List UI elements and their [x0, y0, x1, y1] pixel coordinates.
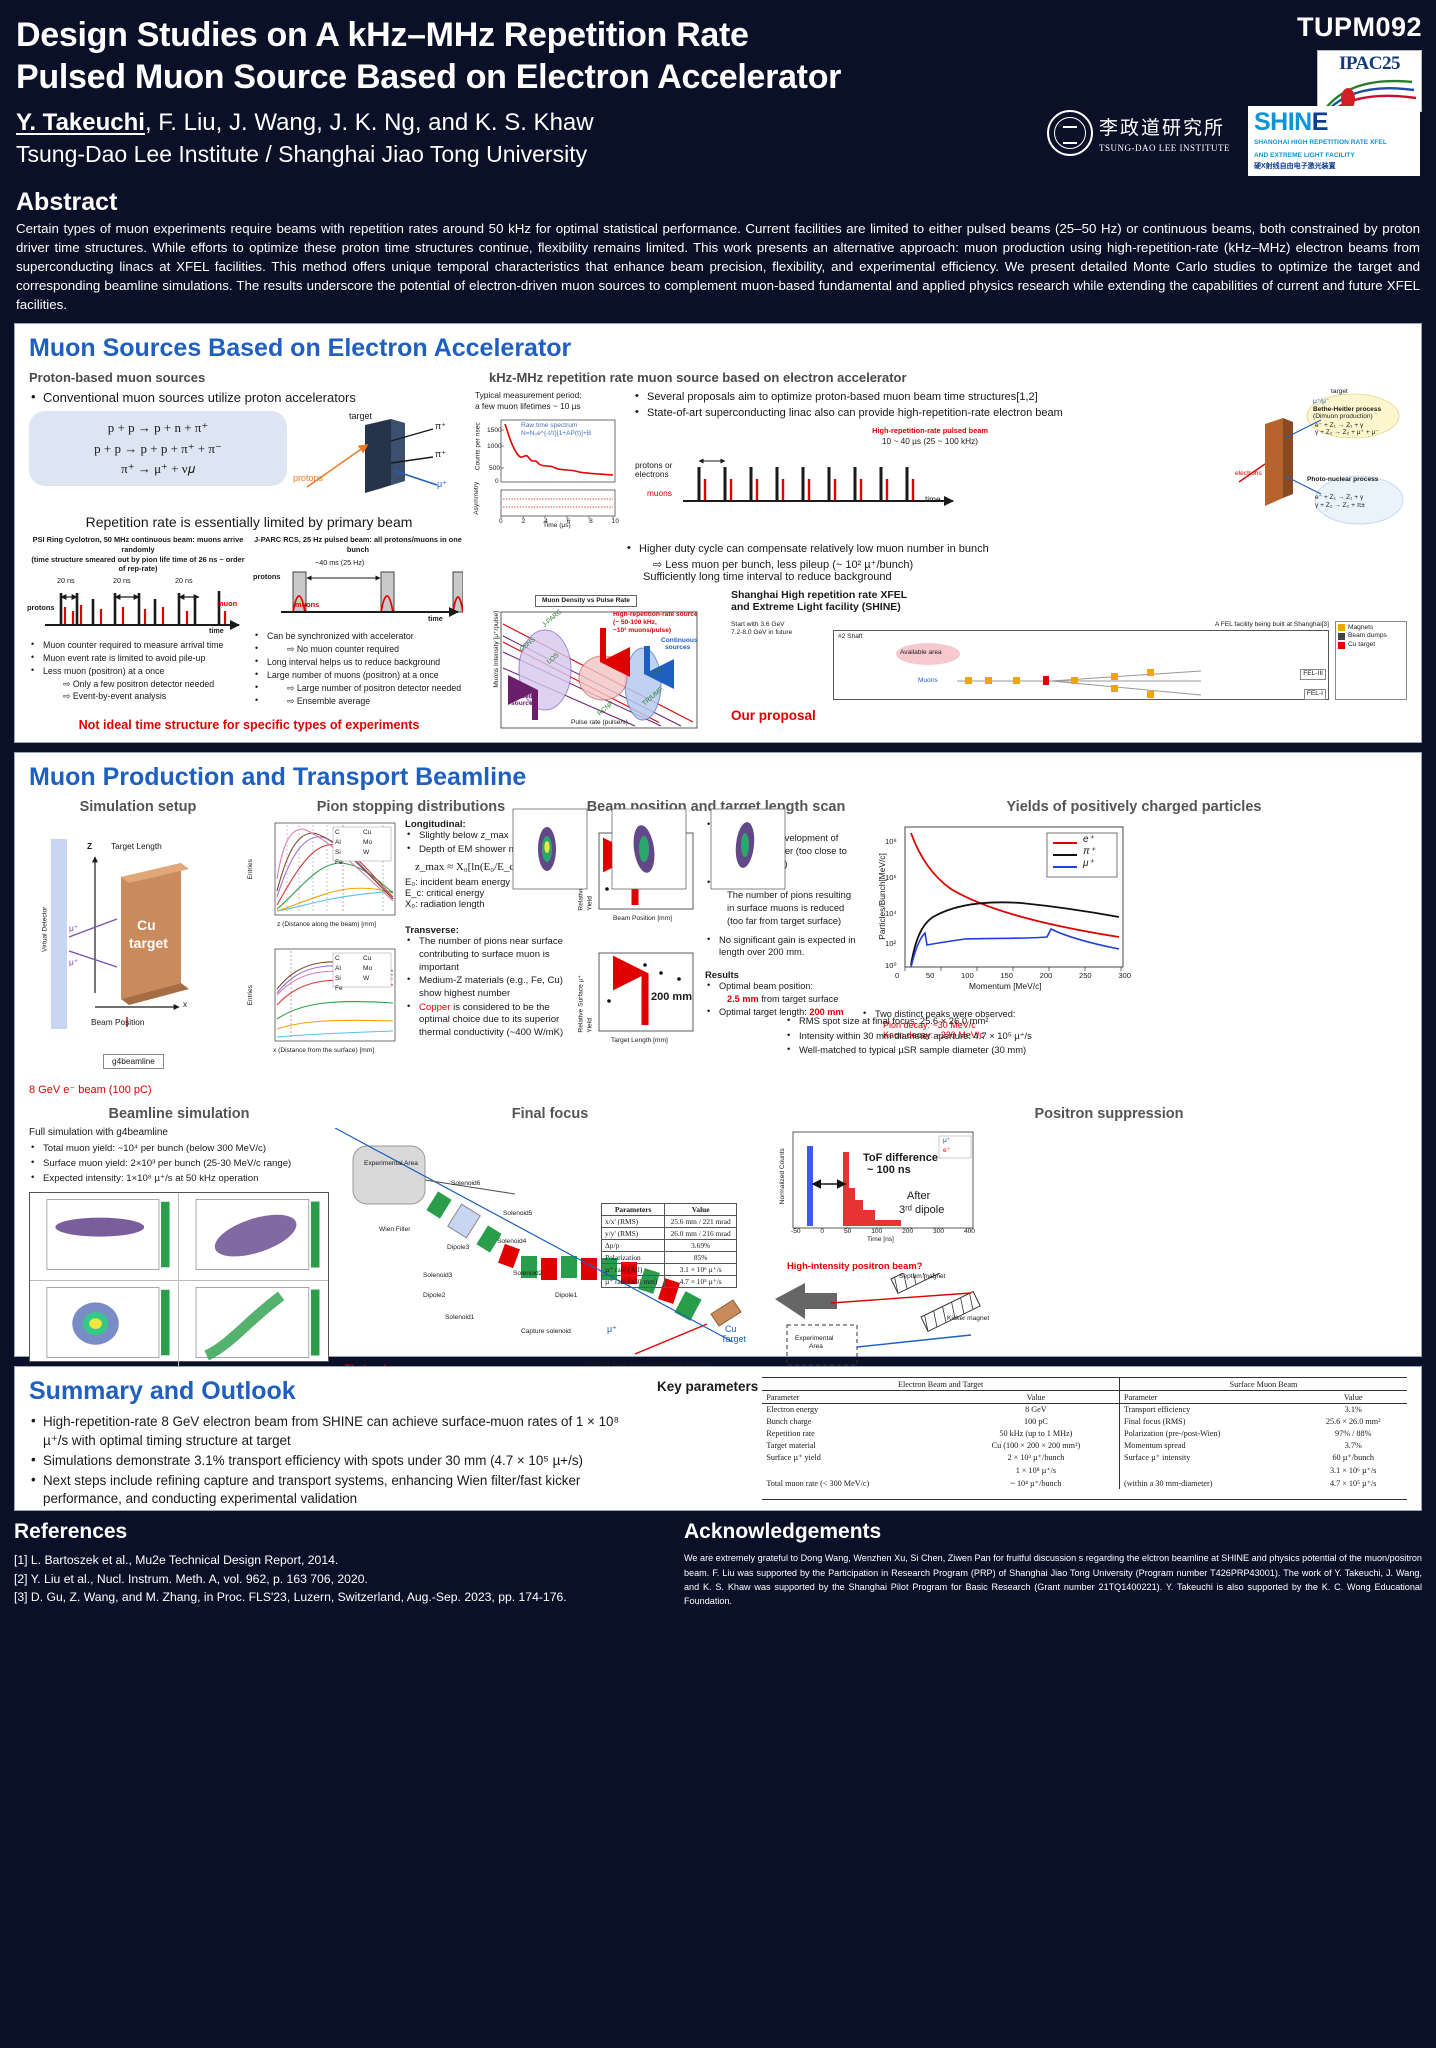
cu-target-label-2: Target	[721, 1334, 746, 1346]
legend-ti: Si	[335, 974, 363, 984]
tdli-english-name: TSUNG-DAO LEE INSTITUTE	[1099, 143, 1230, 153]
beam-position-label: Beam Position	[91, 1017, 145, 1028]
poster-header: Design Studies on A kHz–MHz Repetition R…	[0, 0, 1436, 180]
legend-cu: Cu	[363, 828, 391, 838]
table-header-row: ParameterValueParameterValue	[762, 1391, 1407, 1404]
summary-col: Summary and Outlook High-repetition-rate…	[29, 1377, 641, 1500]
fel-note: A FEL facility being built at Shanghai[3…	[833, 621, 1329, 630]
pion-label-2: π⁺	[435, 449, 446, 460]
xtick: 100	[871, 1228, 882, 1237]
density-pulsed-2: sources	[511, 700, 536, 709]
pion-label-1: π⁺	[435, 421, 446, 432]
muon-label: μ⁺	[437, 479, 447, 490]
value-col-header: Value	[665, 1204, 737, 1216]
affiliation: Tsung-Dao Lee Institute / Shanghai Jiao …	[16, 141, 1047, 168]
density-hr-note-3: ~10³ muons/pulse)	[613, 627, 671, 636]
col-value-right: Value	[1299, 1391, 1407, 1404]
target-length-label: Target Length	[111, 841, 162, 852]
result-pos-label: Optimal beam position:	[719, 981, 813, 991]
solenoid6-label: Solenoid6	[451, 1180, 480, 1189]
high-rep-beam-figure: High-repetition-rate pulsed beam 10 ~ 40…	[633, 426, 1227, 521]
list-item: The number of pions near surface contrib…	[405, 936, 571, 974]
hr-muons-label: muons	[647, 488, 672, 499]
solenoid5-label: Solenoid5	[503, 1210, 532, 1219]
pion-long-chart: C Cu Al Mo Si W Fe Entries z (Distance a…	[251, 819, 401, 931]
scan-targetlen-chart: 200 mm Relative Surface μ⁺ Yield Target …	[575, 943, 701, 1051]
table-row: µ⁺ rate (All)3.1 × 10⁶ µ⁺/s	[602, 1264, 737, 1276]
kicker-magnet-label: Kicker magnet	[947, 1315, 989, 1324]
photo-nuclear-eq-2: γ + Z₂ → Z₂ + π±	[1315, 502, 1365, 511]
xtick: 0	[895, 971, 899, 981]
table-row: µ⁺ rate (ø30 mm)4.7 × 10⁵ µ⁺/s	[602, 1276, 737, 1288]
shine-title-line-2: and Extreme Light facility (SHINE)	[731, 601, 1407, 613]
scan2-annotation: 200 mm	[651, 991, 692, 1003]
equation-3: π⁺ → μ⁺ + ν𝜇	[45, 459, 271, 479]
list-item: [3] D. Gu, Z. Wang, and M. Zhang, in Pro…	[14, 1588, 654, 1606]
list-item: Copper is considered to be the optimal c…	[405, 1002, 571, 1040]
group-right: Surface Muon Beam	[1120, 1378, 1407, 1390]
results-heading: Results	[705, 969, 857, 980]
high-intensity-positron-note: High-intensity positron beam?	[787, 1260, 1407, 1271]
final-focus-params-table: ParametersValue x/x' (RMS)25.6 mm / 221 …	[601, 1203, 737, 1288]
pion-trans-ylabel: Entries	[247, 985, 256, 1006]
list-item: Less muon (positron) at a once	[29, 665, 247, 677]
xtick: 2	[522, 518, 526, 527]
exp-area-label-2: Area	[809, 1343, 823, 1352]
beamline-sim-col: Beamline simulation Full simulation with…	[29, 1106, 329, 1395]
ipac-arcs-icon	[1322, 74, 1418, 110]
phase-plot-c	[30, 1281, 179, 1368]
legend-beam-dumps: Beam dumps	[1348, 632, 1387, 641]
photo-nuclear-title: Photo-nuclear process	[1307, 476, 1378, 485]
paper-id: TUPM092	[1297, 12, 1422, 43]
after-dipole-line-2: 3ʳᵈ dipole	[899, 1204, 944, 1216]
axis-z-label: Z	[87, 841, 92, 852]
legend-al: Al	[335, 838, 363, 848]
list-item: No significant gain is expected in lengt…	[705, 934, 857, 960]
phase-plot-b	[179, 1193, 328, 1281]
fel-legend: Magnets Beam dumps Cu target	[1335, 621, 1407, 701]
virtual-detector-label: Virtual Detector	[41, 907, 50, 952]
list-item: Total muon yield: ~10⁴ per bunch (below …	[29, 1142, 329, 1156]
list-item: Next steps include refining capture and …	[29, 1472, 641, 1510]
acknowledgements-body: We are extremely grateful to Dong Wang, …	[684, 1551, 1422, 1607]
tof-legend-e: e⁺	[943, 1147, 950, 1156]
equation-2: p + p → p + p + π⁺ + π⁻	[45, 439, 271, 459]
wien-filter-label: Wien Filter	[379, 1226, 411, 1235]
jparc-sub-note-2: ⇨ Large number of positron detector need…	[253, 682, 463, 694]
jparc-sub-note-1: ⇨ No muon counter required	[253, 643, 463, 655]
authors-row: Y. Takeuchi, F. Liu, J. Wang, J. K. Ng, …	[16, 108, 1420, 176]
phase-plot-a	[30, 1193, 179, 1281]
fel-id-1: FEL-I	[1304, 689, 1326, 700]
pion-long-xlabel: z (Distance along the beam) [mm]	[277, 921, 376, 930]
electron-bullet-list: Several proposals aim to optimize proton…	[633, 390, 1227, 420]
section2-heading: Muon Production and Transport Beamline	[29, 763, 1407, 792]
shine-word-e: E	[1312, 108, 1328, 136]
lead-author: Y. Takeuchi	[16, 109, 145, 136]
tof-chart: μ⁺ e⁺ ToF difference ~ 100 ns After 3ʳᵈ …	[771, 1128, 1407, 1256]
list-item: Simulations demonstrate 3.1% transport e…	[29, 1452, 641, 1471]
hr-title: High-repetition-rate pulsed beam	[633, 426, 1227, 436]
typical-period-line-2: a few muon lifetimes ~ 10 µs	[475, 401, 625, 412]
full-sim-note: Full simulation with g4beamline	[29, 1127, 329, 1138]
psi-timing-block: PSI Ring Cyclotron, 50 MHz continuous be…	[29, 535, 247, 708]
key-params-col: Key parameters Electron Beam and TargetS…	[657, 1377, 1407, 1500]
list-item: RMS spot size at final focus: 25.6 × 26.…	[785, 1014, 1115, 1027]
shine-title-line-1: Shanghai High repetition rate XFEL	[731, 589, 1407, 601]
shine-subtitle-1: SHANGHAI HIGH REPETITION RATE XFEL	[1254, 138, 1415, 147]
psi-tick-label-2: 20 ns	[113, 576, 131, 585]
spectrum-y-axis-label: Counts per nsec	[475, 423, 484, 471]
tdli-seal-icon	[1047, 110, 1093, 156]
yields-ylabel: Particles/Bunch[MeV/c]	[877, 854, 888, 941]
phase-plot-d	[179, 1281, 328, 1368]
xtick: 300	[1118, 971, 1131, 981]
available-area-label: Available area	[900, 649, 942, 658]
list-item: [2] Y. Liu et al., Nucl. Instrum. Meth. …	[14, 1570, 654, 1588]
result-pos-suffix: from target surface	[761, 994, 838, 1004]
electron-bullets-block: Several proposals aim to optimize proton…	[633, 390, 1227, 540]
xtick: 10	[612, 518, 619, 527]
g4beamline-tag: g4beamline	[103, 1054, 164, 1069]
pion-production-equations: p + p → p + n + π⁺ p + p → p + p + π⁺ + …	[29, 411, 287, 485]
proton-based-column: Proton-based muon sources Conventional m…	[29, 370, 469, 746]
xtick: 0	[499, 518, 503, 527]
capture-solenoid-label: Capture solenoid	[521, 1328, 573, 1337]
pion-trans-xlabel: x (Distance from the surface) [mm]	[273, 1047, 374, 1056]
hr-time-axis-label: time	[925, 494, 941, 505]
magnets-swatch-icon	[1338, 624, 1345, 631]
repetition-rate-note: Repetition rate is essentially limited b…	[29, 514, 469, 530]
psi-caption-line-2: (time structure smeared out by pion life…	[29, 555, 247, 574]
spectrum-ytick-1: 1500	[487, 427, 502, 436]
xtick: 150	[1000, 971, 1013, 981]
legend-si: Si	[335, 848, 363, 858]
beamline-phase-space-grid	[29, 1192, 329, 1362]
references-list: [1] L. Bartoszek et al., Mu2e Technical …	[14, 1551, 654, 1606]
table-row: Δp/p3.69%	[602, 1240, 737, 1252]
jparc-protons-label: protons	[253, 572, 281, 581]
psi-time-axis-label: time	[209, 626, 224, 635]
table-row: Total muon rate (< 300 MeV/c)~ 10⁴ µ⁺/bu…	[762, 1477, 1407, 1490]
solenoid1-label: Solenoid1	[445, 1314, 474, 1323]
electron-beam-note: 8 GeV e⁻ beam (100 pC)	[29, 1083, 247, 1096]
list-item: State-of-art superconducting linac also …	[633, 406, 1227, 420]
tdli-text: 李政道研究所 TSUNG-DAO LEE INSTITUTE	[1099, 113, 1230, 153]
after-dipole-line-1: After	[907, 1190, 930, 1202]
our-proposal-label: Our proposal	[731, 708, 1407, 723]
abstract-heading: Abstract	[16, 188, 1436, 217]
hr-interval-label: 10 ~ 40 µs (25 ~ 100 kHz)	[633, 436, 1227, 447]
target-label-sim: target	[129, 935, 168, 951]
electrons-right-label: electrons	[1235, 470, 1262, 479]
axis-x-label: x	[183, 999, 187, 1010]
table-row: Target materialCu (100 × 200 × 200 mm³)M…	[762, 1439, 1407, 1451]
shine-chinese: 硬X射线自由电子激光装置	[1254, 161, 1415, 171]
duty-sub-note-1: ⇨ Less muon per bunch, less pileup (~ 10…	[625, 558, 1407, 571]
xtick: 0	[820, 1228, 824, 1237]
raw-time-spectrum-chart: Raw time spectrum N=N₀e^{-t/τ}[1+AP(t)]+…	[475, 416, 625, 528]
list-item: Several proposals aim to optimize proton…	[633, 390, 1227, 404]
shine-logo: SHINE SHANGHAI HIGH REPETITION RATE XFEL…	[1248, 106, 1420, 176]
jparc-caption: J-PARC RCS, 25 Hz pulsed beam: all proto…	[253, 535, 463, 554]
spectrum-asym-label: Asymmetry	[473, 482, 482, 515]
fel-shaft-label: #2 Shaft	[838, 633, 863, 642]
equation-1: p + p → p + n + π⁺	[45, 418, 271, 438]
beam-dumps-swatch-icon	[1338, 633, 1345, 640]
density-continuous-2: sources	[665, 644, 690, 653]
transverse-list: The number of pions near surface contrib…	[405, 936, 571, 1039]
positron-suppression-heading: Positron suppression	[811, 1106, 1407, 1122]
yields-legend-pip: π⁺	[1083, 846, 1095, 857]
shine-word-main: SHIN	[1254, 108, 1312, 136]
table-row: 1 × 10⁸ µ⁺/s3.1 × 10⁶ µ⁺/s	[762, 1464, 1407, 1477]
psi-sub-note-2: ⇨ Event-by-event analysis	[29, 690, 247, 702]
section-beamline: Muon Production and Transport Beamline S…	[14, 752, 1422, 1357]
cu-target-swatch-icon	[1338, 642, 1345, 649]
jparc-muons-label: muons	[295, 600, 319, 609]
legend-w: W	[363, 974, 391, 984]
scan2-xlabel: Target Length [mm]	[611, 1037, 668, 1046]
table-row: y/y' (RMS)26.0 mm / 216 mrad	[602, 1228, 737, 1240]
xtick: 400	[964, 1228, 975, 1237]
spectrum-x-axis-label: Time (μs)	[543, 522, 571, 531]
section-summary: Summary and Outlook High-repetition-rate…	[14, 1366, 1422, 1511]
legend-magnets: Magnets	[1348, 624, 1373, 633]
fel-muons-label: Muons	[918, 677, 938, 686]
yields-legend-ep: e⁺	[1083, 834, 1094, 845]
experimental-area-label: Experimental Area	[363, 1160, 419, 1169]
simulation-setup-heading: Simulation setup	[29, 799, 247, 815]
authors-block: Y. Takeuchi, F. Liu, J. Wang, J. K. Ng, …	[16, 108, 1047, 168]
co-authors: , F. Liu, J. Wang, J. K. Ng, and K. S. K…	[145, 109, 594, 136]
tof-ylabel: Normalized Counts	[779, 1149, 788, 1205]
jparc-sub-note-3: ⇨ Ensemble average	[253, 695, 463, 707]
septum-magnet-label: Septum magnet	[899, 1273, 946, 1282]
list-item: Large number of muons (positron) at a on…	[253, 669, 463, 681]
yields-heading: Yields of positively charged particles	[861, 799, 1407, 815]
xtick: 300	[933, 1228, 944, 1237]
acknowledgements-block: Acknowledgements We are extremely gratef…	[684, 1520, 1422, 1607]
abstract-body: Certain types of muon experiments requir…	[16, 220, 1420, 314]
density-x-axis-label: Pulse rate (pulse/s)	[571, 719, 628, 728]
pion-legend-long: C Cu Al Mo Si W Fe	[335, 828, 391, 868]
legend-cu: Cu	[363, 954, 391, 964]
list-item: Conventional muon sources utilize proton…	[29, 390, 469, 405]
tdli-logo: 李政道研究所 TSUNG-DAO LEE INSTITUTE	[1047, 110, 1230, 156]
psi-caption-line-1: PSI Ring Cyclotron, 50 MHz continuous be…	[29, 535, 247, 554]
pion-legend-trans: C Cu Al Mo Si W Fe	[335, 954, 391, 994]
solenoid4-label: Solenoid4	[497, 1238, 526, 1247]
kicker-figure: Septum magnet Kicker magnet Experimental…	[771, 1273, 1407, 1373]
table-row: Surface µ⁺ yield2 × 10³ µ⁺/bunchSurface …	[762, 1451, 1407, 1464]
results-list: Optimal beam position:2.5 mm from target…	[705, 980, 857, 1018]
ipac-logo-label: IPAC25	[1339, 53, 1400, 75]
xtick: 50	[926, 971, 934, 981]
dipole2-label: Dipole2	[423, 1292, 445, 1301]
pion-charts: C Cu Al Mo Si W Fe Entries z (Distance a…	[251, 819, 401, 1057]
density-chart-title: Muon Density vs Pulse Rate	[535, 595, 637, 608]
list-item: Can be synchronized with accelerator	[253, 630, 463, 642]
legend-al: Al	[335, 964, 363, 974]
xtick: 8	[589, 518, 593, 527]
yields-xlabel: Momentum [MeV/c]	[969, 981, 1042, 992]
section1-body: Proton-based muon sources Conventional m…	[29, 370, 1407, 746]
legend-c: C	[335, 828, 363, 838]
solenoid3-label: Solenoid3	[423, 1272, 452, 1281]
yields-chart: e⁺ π⁺ μ⁺ Particles/Bunch[MeV/c] 05010015…	[861, 821, 1407, 1001]
spectrum-ytick-2: 1000	[487, 443, 502, 452]
param-col-header: Parameters	[602, 1204, 665, 1216]
table-group-header: Electron Beam and TargetSurface Muon Bea…	[762, 1378, 1407, 1390]
electron-based-column: kHz-MHz repetition rate muon source base…	[475, 370, 1407, 746]
transverse-heading: Transverse:	[405, 925, 571, 936]
key-parameters-heading: Key parameters	[657, 1377, 758, 1500]
shine-start-note-2: 7.2-8.0 GeV in future	[731, 629, 827, 638]
mu-label-up: μ⁺	[69, 923, 78, 934]
table-row: x/x' (RMS)25.6 mm / 221 mrad	[602, 1216, 737, 1228]
typical-period-line-1: Typical measurement period:	[475, 390, 625, 401]
mu-plus-out-label: μ⁺	[607, 1324, 617, 1336]
tdli-chinese-name: 李政道研究所	[1099, 113, 1230, 140]
legend-w: W	[363, 848, 391, 858]
bethe-heitler-title-2: (Dimuon production)	[1313, 413, 1373, 422]
time-spectrum-block: Typical measurement period: a few muon l…	[475, 390, 625, 540]
references-block: References [1] L. Bartoszek et al., Mu2e…	[14, 1520, 654, 1607]
beamline-sim-bullets: Total muon yield: ~10⁴ per bunch (below …	[29, 1142, 329, 1186]
list-item: Surface muon yield: 2×10³ per bunch (25-…	[29, 1157, 329, 1171]
scan1-xlabel: Beam Position [mm]	[613, 915, 672, 924]
production-process-figure: target electrons μ⁺/μ⁻ Bethe-Heitler pro…	[1235, 390, 1407, 540]
summary-heading: Summary and Outlook	[29, 1377, 641, 1406]
author-names: Y. Takeuchi, F. Liu, J. Wang, J. K. Ng, …	[16, 108, 1047, 139]
jparc-bullet-list: Can be synchronized with accelerator ⇨ N…	[253, 630, 463, 708]
tof-xlabel: Time [ns]	[867, 1236, 894, 1245]
duty-sub-note-2: Sufficiently long time interval to reduc…	[625, 571, 1407, 583]
psi-tick-label-3: 20 ns	[175, 576, 193, 585]
mu-label-down: μ⁺	[69, 957, 78, 968]
list-item: Well-matched to typical µSR sample diame…	[785, 1043, 1115, 1056]
list-item: Muon counter required to measure arrival…	[29, 639, 247, 651]
references-heading: References	[14, 1520, 654, 1544]
legend-fe: Fe	[335, 984, 363, 994]
list-item: Higher duty cycle can compensate relativ…	[625, 542, 1407, 556]
poster-footer: References [1] L. Bartoszek et al., Mu2e…	[14, 1520, 1422, 1607]
final-focus-spot-plots	[495, 805, 789, 901]
copper-highlight: Copper	[419, 1002, 450, 1013]
ipac25-logo: IPAC25	[1317, 50, 1422, 112]
shine-start-note-1: Start with 3.6 GeV	[731, 621, 827, 630]
list-item: Expected intensity: 1×10⁸ µ⁺/s at 50 kHz…	[29, 1172, 329, 1186]
section1-heading: Muon Sources Based on Electron Accelerat…	[29, 334, 1407, 363]
shine-wordmark: SHINE	[1254, 110, 1415, 135]
electron-based-subheading: kHz-MHz repetition rate muon source base…	[489, 370, 1407, 385]
group-left: Electron Beam and Target	[762, 1378, 1119, 1390]
table-row: Repetition rate50 kHz (up to 1 MHz)Polar…	[762, 1428, 1407, 1440]
legend-mo: Mo	[363, 964, 391, 974]
duty-cycle-list: Higher duty cycle can compensate relativ…	[625, 542, 1407, 556]
positron-suppression-col: RMS spot size at final focus: 25.6 × 26.…	[771, 1106, 1407, 1395]
summary-bullets: High-repetition-rate 8 GeV electron beam…	[29, 1413, 641, 1509]
table-row: Electron energy8 GeVTransport efficiency…	[762, 1403, 1407, 1415]
jparc-timing-block: J-PARC RCS, 25 Hz pulsed beam: all proto…	[253, 535, 463, 708]
legend-mo: Mo	[363, 838, 391, 848]
target-diagram: target protons π⁺ π⁺ μ⁺	[287, 411, 457, 507]
list-item: Muon event rate is limited to avoid pile…	[29, 652, 247, 664]
jparc-time-axis-label: time	[428, 614, 443, 623]
tof-difference-line-2: ~ 100 ns	[867, 1164, 911, 1176]
proton-bullet-list: Conventional muon sources utilize proton…	[29, 390, 469, 405]
final-focus-heading: Final focus	[335, 1106, 765, 1122]
spectrum-ytick-4: 0	[495, 478, 499, 487]
table-row: Bunch charge100 pCFinal focus (RMS)25.6 …	[762, 1416, 1407, 1428]
pion-long-ylabel: Entries	[247, 859, 256, 880]
cu-label: Cu	[137, 917, 156, 933]
final-focus-bullets: RMS spot size at final focus: 25.6 × 26.…	[785, 1014, 1115, 1056]
xtick: 250	[1079, 971, 1092, 981]
yields-xticks: 050100150200250300	[895, 971, 1131, 981]
psi-protons-label: protons	[27, 603, 55, 612]
solenoid2-label: Solenoid2	[513, 1270, 542, 1279]
pion-trans-chart: C Cu Al Mo Si W Fe Entries x (Distance f…	[251, 945, 401, 1057]
scan2-ylabel: Relative Surface μ⁺ Yield	[577, 963, 594, 1033]
density-y-axis-label: Muons Intensity [μ⁺/pulse]	[493, 611, 502, 688]
bethe-heitler-eq-2: γ + Z₂ → Z₂ + μ⁺ + μ⁻	[1315, 429, 1379, 438]
list-item: Optimal beam position:2.5 mm from target…	[705, 980, 857, 1005]
title-line-1: Design Studies on A kHz–MHz Repetition R…	[16, 14, 1166, 56]
title-line-2: Pulsed Muon Source Based on Electron Acc…	[16, 56, 1166, 98]
jparc-timing-figure: ~40 ms (25 Hz) protons muons time	[253, 558, 463, 630]
xtick: 50	[844, 1228, 851, 1237]
result-pos-value: 2.5 mm	[719, 994, 759, 1004]
psi-timing-figure: 20 ns 20 ns 20 ns protons muon time	[29, 577, 247, 639]
protons-label: protons	[293, 473, 323, 483]
simulation-setup-figure: Z Target Length x Cu target Virtual Dete…	[29, 821, 247, 1051]
dipole3-label: Dipole3	[447, 1244, 469, 1253]
list-item: Intensity within 30 mm diameter aperture…	[785, 1029, 1115, 1042]
col-param-left: Parameter	[762, 1391, 953, 1404]
xtick: 100	[961, 971, 974, 981]
shine-facility-block: Shanghai High repetition rate XFEL and E…	[731, 589, 1407, 747]
page-title: Design Studies on A kHz–MHz Repetition R…	[16, 14, 1166, 98]
list-item: Medium-Z materials (e.g., Fe, Cu) show h…	[405, 975, 571, 1000]
tof-legend-mu: μ⁺	[943, 1137, 950, 1146]
beamline-sim-heading: Beamline simulation	[29, 1106, 329, 1122]
dipole1-label: Dipole1	[555, 1292, 577, 1301]
target-label: target	[349, 411, 372, 421]
xtick: 200	[902, 1228, 913, 1237]
hr-protons-line-2: electrons	[635, 469, 669, 480]
legend-c: C	[335, 954, 363, 964]
psi-sub-note-1: ⇨ Only a few positron detector needed	[29, 678, 247, 690]
muon-density-chart: Muon Density vs Pulse Rate	[475, 589, 723, 747]
xtick: 200	[1040, 971, 1053, 981]
fel-layout-figure: #2 Shaft Available area	[833, 630, 1329, 700]
spectrum-title-line-2: N=N₀e^{-t/τ}[1+AP(t)]+B	[521, 430, 591, 439]
yields-legend-mup: μ⁺	[1083, 858, 1094, 869]
fel-id-3: FEL-III	[1300, 669, 1326, 680]
tof-difference-line-1: ToF difference	[863, 1152, 938, 1164]
legend-fe: Fe	[335, 858, 363, 868]
key-parameters-table: Electron Beam and TargetSurface Muon Bea…	[762, 1377, 1407, 1500]
psi-bullet-list: Muon counter required to measure arrival…	[29, 639, 247, 677]
section-muon-sources: Muon Sources Based on Electron Accelerat…	[14, 323, 1422, 743]
xtick: -50	[791, 1228, 801, 1237]
acknowledgements-heading: Acknowledgements	[684, 1520, 1422, 1544]
proton-based-subheading: Proton-based muon sources	[29, 370, 469, 385]
table-row: Polarization85%	[602, 1252, 737, 1264]
